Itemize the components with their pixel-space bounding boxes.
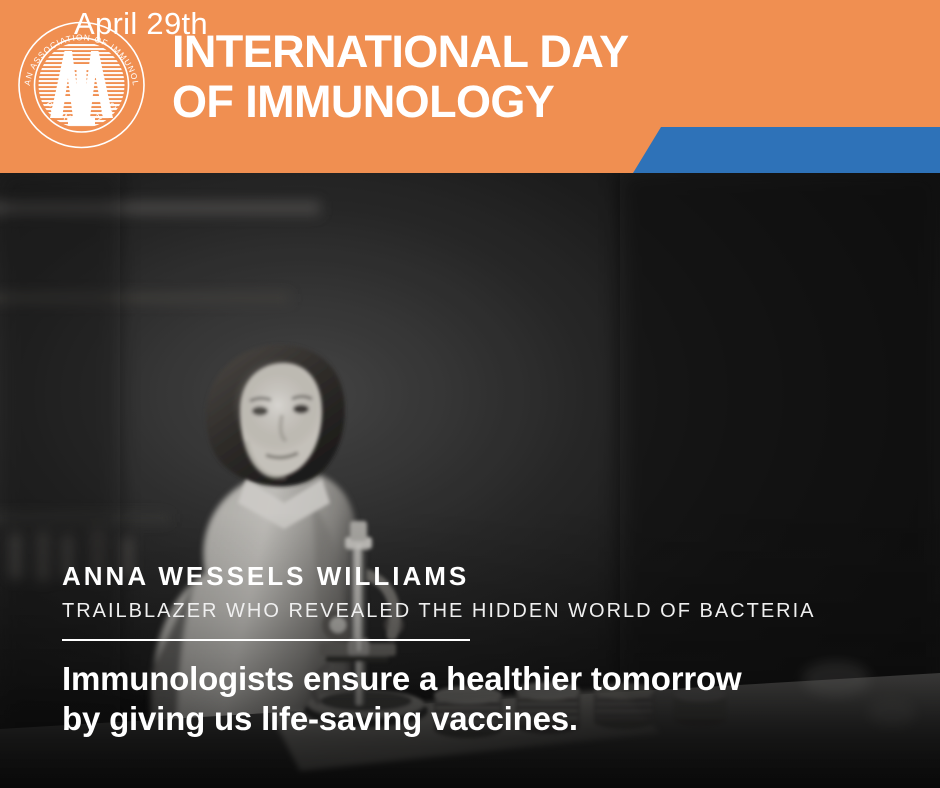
tagline-line-2: by giving us life-saving vaccines.: [62, 699, 892, 739]
person-name: ANNA WESSELS WILLIAMS: [62, 561, 892, 591]
poster-title-line-2: OF IMMUNOLOGY: [172, 77, 732, 127]
caption-block: ANNA WESSELS WILLIAMS TRAILBLAZER WHO RE…: [62, 561, 892, 739]
person-subtitle: TRAILBLAZER WHO REVEALED THE HIDDEN WORL…: [62, 599, 892, 623]
tagline-quote: Immunologists ensure a healthier tomorro…: [62, 659, 892, 739]
date-badge: [633, 127, 940, 173]
tagline-line-1: Immunologists ensure a healthier tomorro…: [62, 659, 892, 699]
poster-title-group: INTERNATIONAL DAY OF IMMUNOLOGY: [172, 27, 732, 127]
poster-header: AMERICAN ASSOCIATION OF IMMUNOLOGISTS FO…: [0, 0, 940, 173]
date-badge-label: April 29th: [74, 5, 208, 43]
poster-title-line-1: INTERNATIONAL DAY: [172, 27, 732, 77]
immunology-day-poster: AMERICAN ASSOCIATION OF IMMUNOLOGISTS FO…: [0, 0, 940, 788]
archival-photo: ANNA WESSELS WILLIAMS TRAILBLAZER WHO RE…: [0, 173, 940, 788]
caption-divider: [62, 639, 470, 641]
